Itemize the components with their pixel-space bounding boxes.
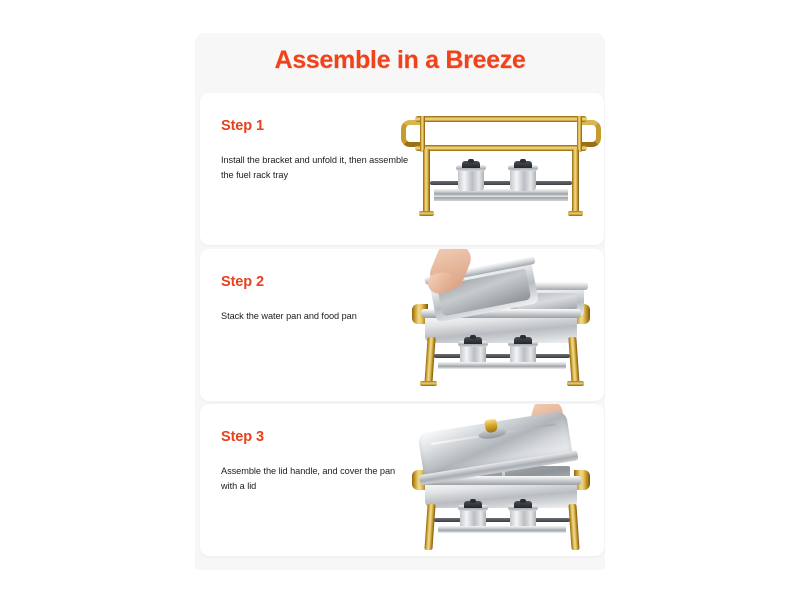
fuel-rack-crossbar: [430, 181, 572, 185]
frame-leg-left: [424, 504, 435, 550]
water-pan-basin: [425, 482, 577, 508]
fuel-rack-tray: [438, 526, 566, 533]
fuel-rack-tray: [434, 189, 568, 197]
frame-leg-right: [568, 337, 579, 385]
canister-knob: [470, 335, 476, 339]
step-2-product-image: [398, 249, 604, 401]
step-3-product-image: [398, 404, 604, 556]
canister-body: [458, 168, 484, 191]
step-3-description: Assemble the lid handle, and cover the p…: [221, 464, 411, 494]
step-card-2: Step 2 Stack the water pan and food pan: [200, 249, 604, 401]
frame-top-rail: [415, 116, 587, 122]
step-2-heading: Step 2: [221, 275, 411, 291]
step-1-product-image: [398, 93, 604, 245]
step-1-heading: Step 1: [221, 119, 411, 135]
step-1-text-block: Step 1 Install the bracket and unfold it…: [221, 119, 411, 183]
fuel-rack-crossbar: [434, 518, 570, 522]
step-3-text-block: Step 3 Assemble the lid handle, and cove…: [221, 430, 411, 494]
water-pan-stacking-illustration: [398, 249, 604, 401]
canister-knob: [520, 499, 526, 503]
infographic-page: Assemble in a Breeze Step 1 Install the …: [0, 0, 800, 600]
canister-body: [510, 168, 536, 191]
frame-leg-left: [424, 337, 435, 385]
fuel-canister-left: [458, 161, 484, 191]
frame-post-left: [420, 116, 425, 152]
frame-post-right: [577, 116, 582, 152]
lid-placement-illustration: [398, 404, 604, 556]
canister-knob: [468, 159, 474, 163]
frame-foot-right: [567, 381, 584, 386]
step-2-description: Stack the water pan and food pan: [221, 309, 411, 324]
canister-knob: [520, 335, 526, 339]
frame-leg-left: [423, 149, 430, 215]
frame-foot-right: [568, 211, 583, 216]
step-3-heading: Step 3: [221, 430, 411, 446]
frame-leg-right: [572, 149, 579, 215]
step-1-description: Install the bracket and unfold it, then …: [221, 153, 411, 183]
fuel-rack-tray-lip: [434, 197, 568, 201]
frame-foot-left: [419, 211, 434, 216]
fuel-rack-tray: [438, 362, 566, 369]
canister-knob: [470, 499, 476, 503]
frame-mid-rail: [415, 145, 587, 151]
frame-leg-right: [568, 504, 579, 550]
step-card-1: Step 1 Install the bracket and unfold it…: [200, 93, 604, 245]
chafing-frame-illustration: [398, 93, 604, 245]
step-2-text-block: Step 2 Stack the water pan and food pan: [221, 275, 411, 324]
page-title: Assemble in a Breeze: [195, 46, 605, 75]
canister-knob: [520, 159, 526, 163]
step-card-3: Step 3 Assemble the lid handle, and cove…: [200, 404, 604, 556]
fuel-canister-right: [510, 161, 536, 191]
fuel-rack-crossbar: [434, 354, 570, 358]
frame-foot-left: [420, 381, 437, 386]
